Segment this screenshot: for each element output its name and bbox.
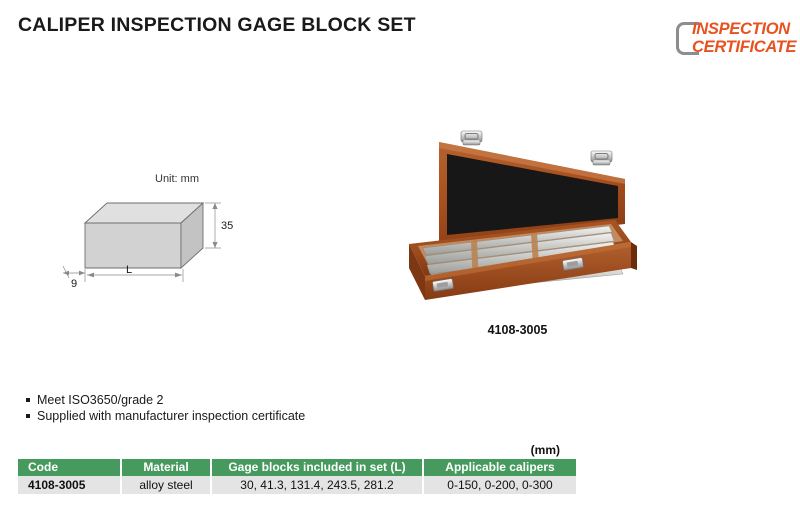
list-item: Supplied with manufacturer inspection ce… (26, 408, 305, 424)
inspection-certificate-logo: INSPECTION CERTIFICATE (674, 19, 792, 59)
feature-text: Meet ISO3650/grade 2 (37, 392, 163, 408)
table-header-row: Code Material Gage blocks included in se… (18, 459, 576, 476)
product-code-caption: 4108-3005 (385, 323, 650, 337)
lid-clasp-right (591, 151, 612, 165)
column-header-gage-blocks: Gage blocks included in set (L) (211, 459, 423, 476)
certificate-logo-line1: INSPECTION (692, 21, 796, 39)
dim-height-label: 35 (221, 220, 233, 232)
cell-gage-blocks: 30, 41.3, 131.4, 243.5, 281.2 (211, 476, 423, 494)
cell-applicable-calipers: 0-150, 0-200, 0-300 (423, 476, 576, 494)
square-bullet-icon (26, 398, 30, 402)
column-header-applicable-calipers: Applicable calipers (423, 459, 576, 476)
square-bullet-icon (26, 414, 30, 418)
dim-length-label: L (126, 264, 132, 276)
certificate-logo-line2: CERTIFICATE (692, 39, 796, 57)
column-header-code: Code (18, 459, 121, 476)
feature-text: Supplied with manufacturer inspection ce… (37, 408, 305, 424)
table-unit-note: (mm) (18, 443, 560, 457)
lid-clasp-left (461, 131, 482, 145)
column-header-material: Material (121, 459, 211, 476)
feature-list: Meet ISO3650/grade 2 Supplied with manuf… (26, 392, 305, 424)
specification-table: Code Material Gage blocks included in se… (18, 459, 576, 494)
page-title: CALIPER INSPECTION GAGE BLOCK SET (18, 14, 416, 37)
product-photo-wooden-case (385, 122, 650, 317)
block-front-face (85, 223, 181, 268)
certificate-logo-text: INSPECTION CERTIFICATE (692, 21, 796, 56)
gage-block-technical-drawing: Unit: mm 35 L 9 (55, 165, 265, 295)
list-item: Meet ISO3650/grade 2 (26, 392, 305, 408)
block-isometric-svg: 35 L 9 (55, 165, 265, 295)
dim-depth-label: 9 (71, 278, 77, 290)
cell-code: 4108-3005 (18, 476, 121, 494)
table-row: 4108-3005 alloy steel 30, 41.3, 131.4, 2… (18, 476, 576, 494)
cell-material: alloy steel (121, 476, 211, 494)
